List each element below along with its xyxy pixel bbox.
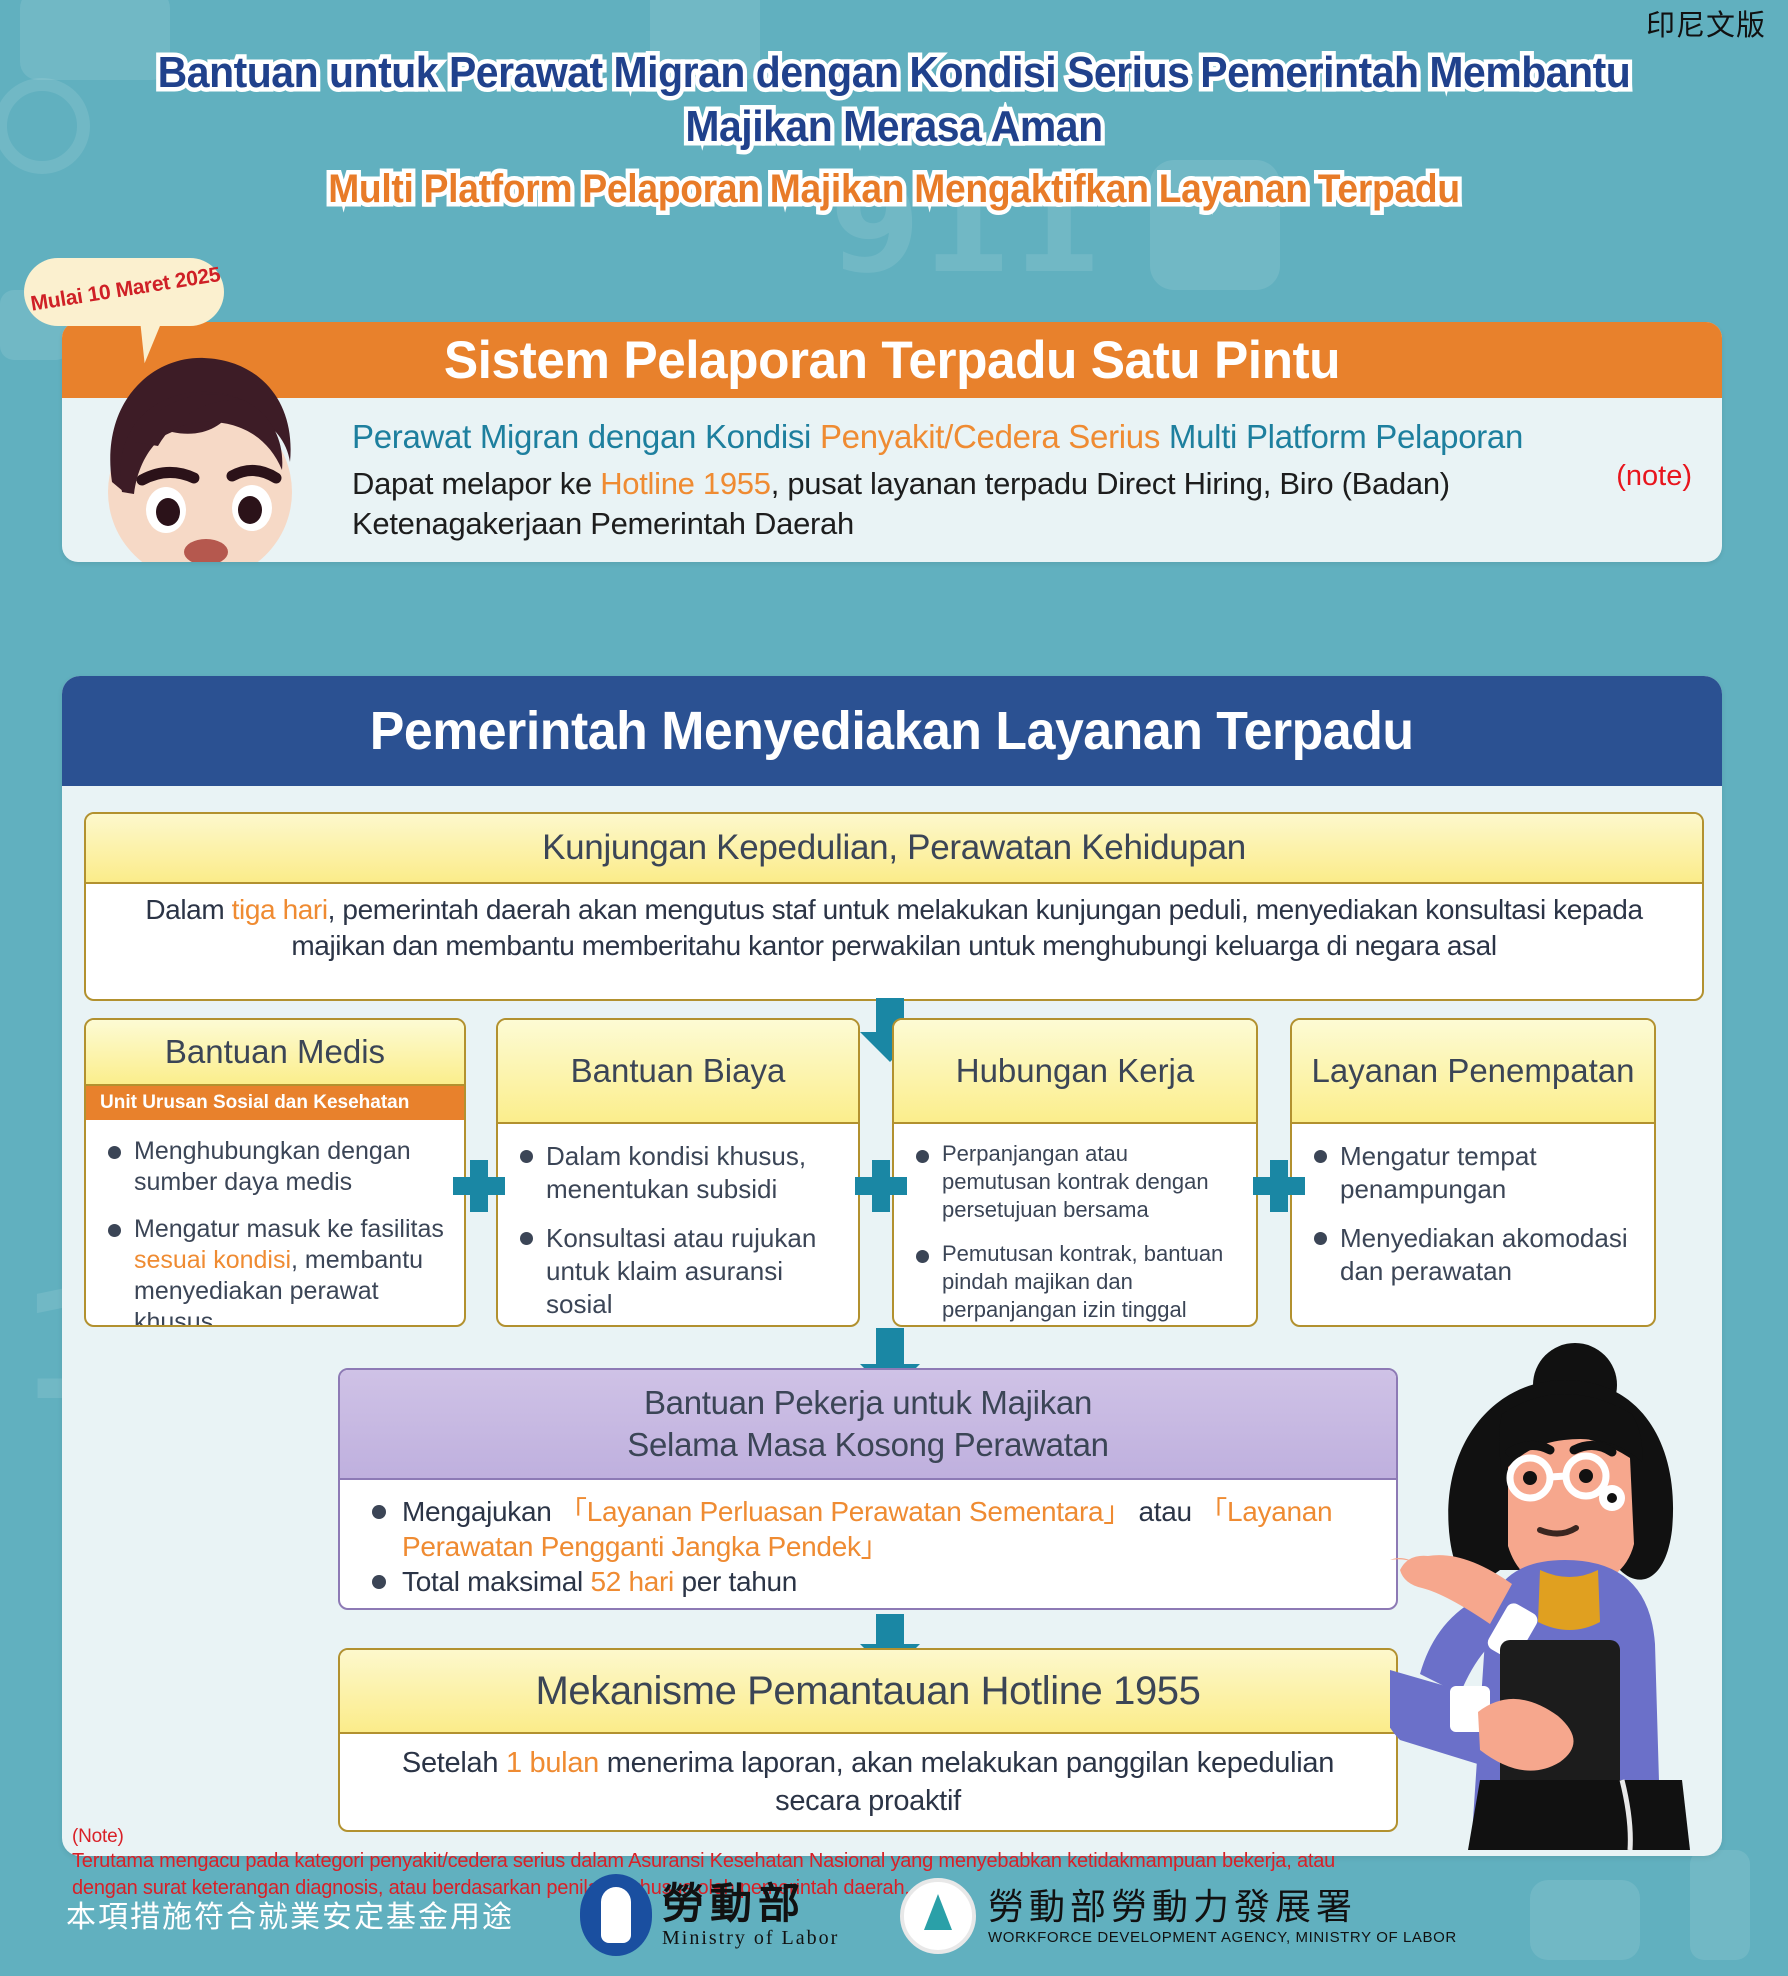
header-subtitle: Multi Platform Pelaporan Majikan Mengakt… (63, 166, 1726, 212)
worker-support-box: Bantuan Pekerja untuk Majikan Selama Mas… (338, 1368, 1398, 1610)
worker-support-heading-line2: Selama Masa Kosong Perawatan (627, 1426, 1108, 1463)
service-card-cost-header: Bantuan Biaya (498, 1020, 858, 1124)
services-panel-heading: Pemerintah Menyediakan Layanan Terpadu (370, 700, 1414, 762)
hotline-text-a: Dapat melapor ke (352, 466, 600, 501)
hotline-monitoring-box: Mekanisme Pemantauan Hotline 1955 Setela… (338, 1648, 1398, 1832)
list-item: Mengajukan 「Layanan Perluasan Perawatan … (362, 1494, 1378, 1564)
start-date-badge: Mulai 10 Maret 2025 (24, 258, 224, 326)
ministry-of-labor-mark-icon (580, 1874, 652, 1956)
list-item: Menghubungkan dengan sumber daya medis (100, 1136, 450, 1198)
service-card-placement: Layanan Penempatan Mengatur tempat penam… (1290, 1018, 1656, 1327)
agency-cn: 勞動部勞動力發展署 (988, 1887, 1457, 1929)
care-visit-highlight: tiga hari (232, 894, 328, 925)
list-item: Konsultasi atau rujukan untuk klaim asur… (512, 1222, 844, 1321)
list-item: Menyediakan akomodasi dan perawatan (1306, 1222, 1640, 1288)
list-item: Total maksimal 52 hari per tahun (362, 1564, 1378, 1599)
care-visit-text-b: , pemerintah daerah akan mengutus staf u… (291, 894, 1642, 961)
service-card-placement-header: Layanan Penempatan (1292, 1020, 1654, 1124)
hotline-monitoring-body: Setelah 1 bulan menerima laporan, akan m… (340, 1734, 1396, 1830)
service-card-cost: Bantuan Biaya Dalam kondisi khusus, mene… (496, 1018, 860, 1327)
plus-connector-icon (1253, 1160, 1305, 1212)
title-line-1: Bantuan untuk Perawat Migran dengan Kond… (63, 46, 1726, 100)
worker-support-list: Mengajukan 「Layanan Perluasan Perawatan … (340, 1480, 1396, 1599)
note-marker: (note) (1616, 460, 1692, 493)
plus-connector-icon (855, 1160, 907, 1212)
language-tag: 印尼文版 (1646, 2, 1766, 44)
footer: 本項措施符合就業安定基金用途 勞動部 Ministry of Labor 勞動部… (0, 1856, 1788, 1976)
care-visit-body: Dalam tiga hari, pemerintah daerah akan … (86, 884, 1702, 972)
service-card-employment-title: Hubungan Kerja (956, 1051, 1195, 1091)
list-item: Mengatur tempat penampungan (1306, 1140, 1640, 1206)
report-channel-text-a: Perawat Migran dengan Kondisi (352, 418, 820, 455)
service-card-cost-title: Bantuan Biaya (571, 1051, 786, 1091)
agency-seal-icon (900, 1878, 976, 1954)
service-card-employment-list: Perpanjangan atau pemutusan kontrak deng… (894, 1124, 1256, 1324)
care-visit-heading: Kunjungan Kepedulian, Perawatan Kehidupa… (542, 828, 1246, 868)
service-card-employment: Hubungan Kerja Perpanjangan atau pemutus… (892, 1018, 1258, 1327)
services-panel-header: Pemerintah Menyediakan Layanan Terpadu (62, 676, 1722, 786)
start-date-text: Mulai 10 Maret 2025 (22, 243, 226, 318)
care-visit-text-a: Dalam (145, 894, 231, 925)
service-card-cost-list: Dalam kondisi khusus, menentukan subsidi… (498, 1124, 858, 1321)
service-card-medical-title: Bantuan Medis (165, 1032, 385, 1072)
care-visit-header: Kunjungan Kepedulian, Perawatan Kehidupa… (86, 814, 1702, 884)
boy-illustration (82, 342, 322, 562)
ministry-of-labor-en: Ministry of Labor (662, 1927, 839, 1950)
one-stop-report-card: Sistem Pelaporan Terpadu Satu Pintu Pera… (62, 322, 1722, 562)
woman-illustration (1390, 1340, 1720, 1850)
care-visit-box: Kunjungan Kepedulian, Perawatan Kehidupa… (84, 812, 1704, 1001)
service-card-medical: Bantuan Medis Unit Urusan Sosial dan Kes… (84, 1018, 466, 1327)
list-item: Mengatur masuk ke fasilitas sesuai kondi… (100, 1214, 450, 1327)
hotline-monitoring-heading: Mekanisme Pemantauan Hotline 1955 (536, 1669, 1201, 1714)
footnote-label: (Note) (72, 1826, 1372, 1848)
service-card-medical-list: Menghubungkan dengan sumber daya medis M… (86, 1120, 464, 1327)
worker-support-heading-line1: Bantuan Pekerja untuk Majikan (644, 1384, 1092, 1421)
list-item: Pemutusan kontrak, bantuan pindah majika… (908, 1240, 1242, 1324)
one-stop-report-heading: Sistem Pelaporan Terpadu Satu Pintu (444, 330, 1340, 391)
worker-support-header: Bantuan Pekerja untuk Majikan Selama Mas… (340, 1370, 1396, 1480)
service-card-placement-title: Layanan Penempatan (1312, 1051, 1635, 1091)
agency-en: WORKFORCE DEVELOPMENT AGENCY, MINISTRY O… (988, 1929, 1457, 1946)
service-card-placement-list: Mengatur tempat penampungan Menyediakan … (1292, 1124, 1654, 1288)
report-channel-highlight: Penyakit/Cedera Serius (820, 418, 1160, 455)
worker-support-heading: Bantuan Pekerja untuk Majikan Selama Mas… (627, 1382, 1108, 1466)
hotline-monitoring-header: Mekanisme Pemantauan Hotline 1955 (340, 1650, 1396, 1734)
service-card-employment-header: Hubungan Kerja (894, 1020, 1256, 1124)
hotline-line: Dapat melapor ke Hotline 1955, pusat lay… (352, 464, 1682, 544)
service-card-medical-subtitle: Unit Urusan Sosial dan Kesehatan (86, 1086, 464, 1120)
report-channel-text-b: Multi Platform Pelaporan (1160, 418, 1523, 455)
hotline-highlight: Hotline 1955 (600, 466, 770, 501)
list-item: Dalam kondisi khusus, menentukan subsidi (512, 1140, 844, 1206)
plus-connector-icon (453, 1160, 505, 1212)
list-item: Perpanjangan atau pemutusan kontrak deng… (908, 1140, 1242, 1224)
header-title-block: Bantuan untuk Perawat Migran dengan Kond… (0, 46, 1788, 212)
ministry-of-labor-logo: 勞動部 Ministry of Labor (580, 1874, 839, 1956)
report-channel-line: Perawat Migran dengan Kondisi Penyakit/C… (352, 414, 1682, 459)
title-line-2: Majikan Merasa Aman (63, 100, 1726, 154)
ministry-of-labor-cn: 勞動部 (662, 1881, 839, 1927)
workforce-development-agency-logo: 勞動部勞動力發展署 WORKFORCE DEVELOPMENT AGENCY, … (900, 1878, 1457, 1954)
service-card-medical-header: Bantuan Medis (86, 1020, 464, 1086)
footer-statement: 本項措施符合就業安定基金用途 (66, 1892, 514, 1936)
